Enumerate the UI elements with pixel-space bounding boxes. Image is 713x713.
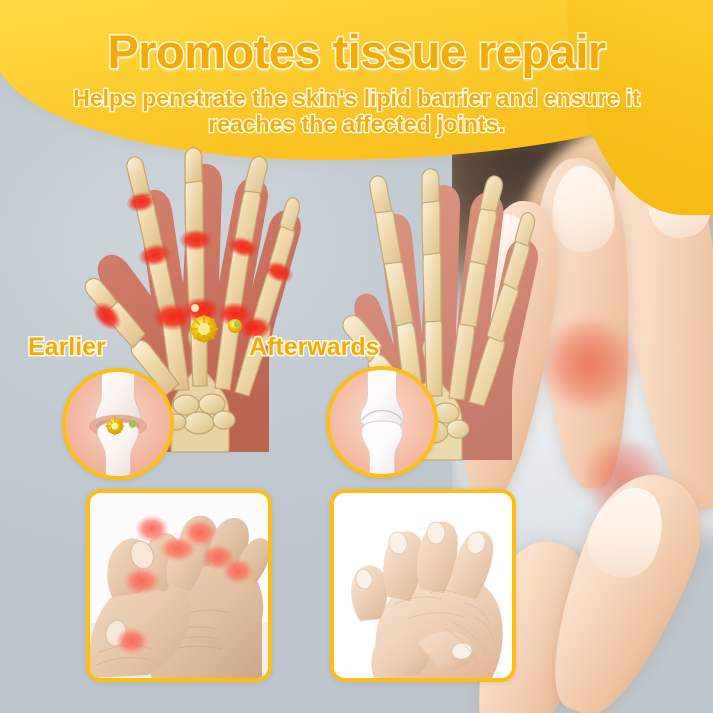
page-subtitle-line-1: Helps penetrate the skin's lipid barrier… xyxy=(50,86,663,112)
label-earlier: Earlier xyxy=(28,333,106,362)
panel-healthy-hand: Healthy hand without inflammation xyxy=(330,489,516,682)
inset-healthy-joint: Healthy clean joint xyxy=(326,366,438,478)
product-marketing-poster: Blurred photo of hands massaging an infl… xyxy=(0,0,713,713)
panel-arthritic-hands: Arthritic hands with inflamed joints xyxy=(86,489,272,682)
page-title: Promotes tissue repair xyxy=(0,24,713,79)
inset-inflamed-joint: Inflamed joint with crystal deposits xyxy=(62,368,174,480)
page-subtitle: Helps penetrate the skin's lipid barrier… xyxy=(50,86,663,138)
page-subtitle-line-2: reaches the affected joints. xyxy=(50,112,663,138)
label-afterwards: Afterwards xyxy=(249,333,380,362)
